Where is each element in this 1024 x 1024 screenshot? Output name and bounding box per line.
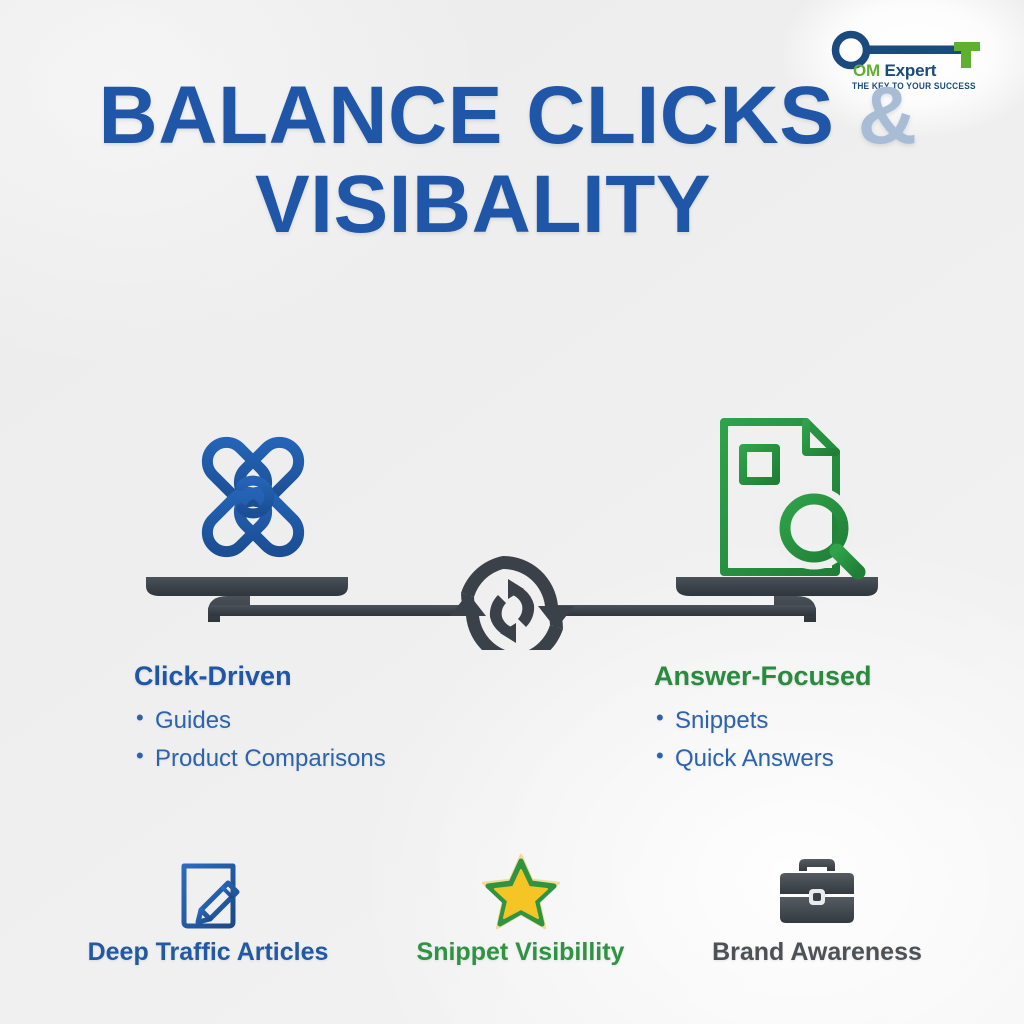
feature-brand-awareness: Brand Awareness — [672, 852, 962, 967]
feature-row: Deep Traffic Articles Snippet Visibillit… — [0, 852, 1024, 982]
chain-links-icon — [183, 422, 323, 577]
comparison-columns: Click-Driven Guides Product Comparisons … — [0, 662, 1024, 802]
bullet-list-click-driven: Guides Product Comparisons — [134, 702, 386, 778]
infographic-canvas: OM Expert THE KEY TO YOUR SUCCESS BALANC… — [0, 0, 1024, 1024]
title-line-2: VISIBALITY — [0, 161, 1024, 250]
list-item: Guides — [134, 702, 386, 740]
document-search-icon — [710, 412, 870, 587]
star-icon — [398, 852, 643, 932]
column-heading-click-driven: Click-Driven — [134, 662, 386, 692]
list-item: Snippets — [654, 702, 872, 740]
title-line-1: BALANCE CLICKS & — [0, 72, 1024, 161]
column-answer-focused: Answer-Focused Snippets Quick Answers — [654, 662, 872, 778]
feature-snippet-visibility: Snippet Visibillity — [398, 852, 643, 967]
sync-refresh-icon — [450, 556, 574, 650]
notepad-pencil-icon — [48, 852, 368, 932]
title-line-1-text: BALANCE CLICKS — [99, 70, 835, 161]
bullet-list-answer-focused: Snippets Quick Answers — [654, 702, 872, 778]
feature-label: Brand Awareness — [672, 938, 962, 967]
column-heading-answer-focused: Answer-Focused — [654, 662, 872, 692]
balance-scale — [0, 400, 1024, 650]
feature-label: Deep Traffic Articles — [48, 938, 368, 967]
briefcase-icon — [672, 852, 962, 932]
feature-deep-traffic-articles: Deep Traffic Articles — [48, 852, 368, 967]
list-item: Quick Answers — [654, 740, 872, 778]
title-ampersand: & — [858, 70, 918, 161]
page-title: BALANCE CLICKS & VISIBALITY — [0, 72, 1024, 249]
feature-label: Snippet Visibillity — [398, 938, 643, 967]
column-click-driven: Click-Driven Guides Product Comparisons — [134, 662, 386, 778]
list-item: Product Comparisons — [134, 740, 386, 778]
